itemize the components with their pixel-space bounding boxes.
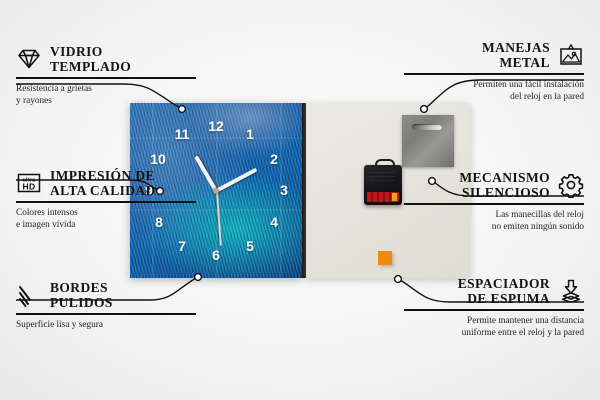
callout-desc: Las manecillas del reloj no emiten ningú… — [404, 209, 584, 234]
callout-desc: Superficie lisa y segura — [16, 319, 196, 331]
callout-rule — [16, 201, 196, 203]
battery-label — [367, 192, 399, 202]
callout-impresion-alta-calidad: ultra HD IMPRESIÓN DE ALTA CALIDAD Color… — [16, 168, 196, 231]
diamond-icon — [16, 46, 42, 72]
polished-edges-icon — [16, 282, 42, 308]
svg-text:HD: HD — [22, 182, 35, 192]
wall-mount-frame-icon — [558, 42, 584, 68]
callout-manejas-metal: MANEJAS METAL Permiten una fácil instala… — [404, 40, 584, 103]
callout-desc: Resistencia a grietas y rayones — [16, 83, 196, 108]
clock-numeral-7: 7 — [172, 239, 192, 253]
quartz-movement-box — [364, 165, 402, 205]
callout-desc: Colores intensos e imagen vívida — [16, 207, 196, 232]
callout-title: ESPACIADOR DE ESPUMA — [458, 276, 550, 306]
clock-numeral-4: 4 — [264, 215, 284, 229]
gear-icon — [558, 172, 584, 198]
callout-rule — [16, 77, 196, 79]
callout-title: MANEJAS METAL — [482, 40, 550, 70]
callout-desc: Permite mantener una distancia uniforme … — [404, 315, 584, 340]
clock-numeral-5: 5 — [240, 239, 260, 253]
callout-desc: Permiten una fácil instalación del reloj… — [404, 79, 584, 104]
metal-hanger-plate — [402, 115, 454, 167]
clock-hand-cap — [213, 188, 219, 194]
callout-vidrio-templado: VIDRIO TEMPLADO Resistencia a grietas y … — [16, 44, 196, 107]
clock-numeral-2: 2 — [264, 152, 284, 166]
callout-rule — [404, 203, 584, 205]
callout-title-row: MECANISMO SILENCIOSO — [404, 170, 584, 200]
callout-title-row: MANEJAS METAL — [404, 40, 584, 70]
callout-title: MECANISMO SILENCIOSO — [459, 170, 550, 200]
infographic-canvas: 12 1 2 3 4 5 6 7 8 9 10 11 — [0, 0, 600, 400]
movement-label — [369, 172, 395, 184]
callout-title-row: BORDES PULIDOS — [16, 280, 196, 310]
callout-title-row: VIDRIO TEMPLADO — [16, 44, 196, 74]
clock-numeral-10: 10 — [148, 152, 168, 166]
callout-mecanismo-silencioso: MECANISMO SILENCIOSO Las manecillas del … — [404, 170, 584, 233]
foam-spacer-icon — [558, 278, 584, 304]
callout-title: VIDRIO TEMPLADO — [50, 44, 131, 74]
foam-spacer-pad — [378, 251, 392, 265]
callout-title-row: ESPACIADOR DE ESPUMA — [404, 276, 584, 306]
callout-title: BORDES PULIDOS — [50, 280, 113, 310]
callout-espaciador-espuma: ESPACIADOR DE ESPUMA Permite mantener un… — [404, 276, 584, 339]
clock-numeral-12: 12 — [206, 119, 226, 133]
clock-numeral-11: 11 — [172, 127, 192, 141]
callout-rule — [404, 73, 584, 75]
callout-rule — [16, 313, 196, 315]
ultra-hd-icon: ultra HD — [16, 170, 42, 196]
clock-numeral-6: 6 — [206, 248, 226, 262]
callout-title-row: ultra HD IMPRESIÓN DE ALTA CALIDAD — [16, 168, 196, 198]
callout-title: IMPRESIÓN DE ALTA CALIDAD — [50, 168, 156, 198]
clock-numeral-3: 3 — [274, 183, 294, 197]
clock-numeral-1: 1 — [240, 127, 260, 141]
callout-rule — [404, 309, 584, 311]
callout-bordes-pulidos: BORDES PULIDOS Superficie lisa y segura — [16, 280, 196, 331]
keyhole-slot-icon — [412, 124, 442, 130]
battery-tip — [392, 193, 397, 201]
hanger-loop-icon — [375, 159, 395, 169]
